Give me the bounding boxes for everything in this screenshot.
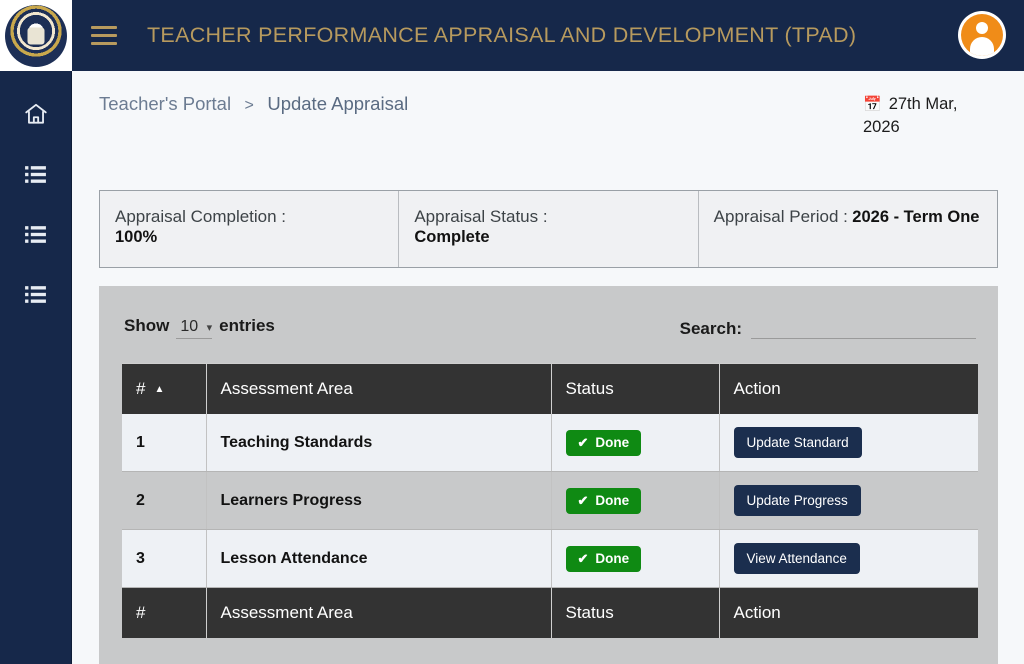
cell-num: 1 [122,414,206,472]
list-icon [23,282,48,307]
calendar-icon: 📅 [863,96,882,113]
table-row: 3 Lesson Attendance ✔Done View Attendanc… [122,530,978,588]
user-avatar-icon [961,14,1003,56]
page-length-select[interactable]: 10 ▾ [176,318,212,339]
table-foot: # Assessment Area Status Action [122,588,978,639]
top-bar: TEACHER PERFORMANCE APPRAISAL AND DEVELO… [72,0,1024,71]
card-value: Complete [414,228,682,247]
view-attendance-button[interactable]: View Attendance [734,543,860,574]
card-label: Appraisal Completion : [115,205,383,228]
update-standard-button[interactable]: Update Standard [734,427,862,458]
list-icon [23,222,48,247]
breadcrumb-row: Teacher's Portal > Update Appraisal 📅27t… [72,71,1024,139]
card-appraisal-completion: Appraisal Completion : 100% [100,191,398,267]
sidebar-item-list-1[interactable] [19,157,53,191]
cell-status: ✔Done [551,414,719,472]
column-header-status[interactable]: Status [551,364,719,415]
cell-assessment-area: Lesson Attendance [206,530,551,588]
status-badge: ✔Done [566,546,642,572]
search-control: Search: [680,319,976,340]
cell-action: View Attendance [719,530,978,588]
check-icon: ✔ [578,551,589,567]
table-header-row: #▲ Assessment Area Status Action [122,364,978,415]
card-label: Appraisal Period : [714,207,848,226]
card-value: 2026 - Term One [852,208,979,226]
column-header-action[interactable]: Action [719,364,978,415]
main-content: Teacher's Portal > Update Appraisal 📅27t… [72,71,1024,664]
footer-action: Action [719,588,978,639]
avatar[interactable] [958,11,1006,59]
card-label: Appraisal Status : [414,205,682,228]
card-value: 100% [115,228,383,247]
sort-ascending-icon: ▲ [154,384,164,395]
page-length-control: Show 10 ▾ entries [124,316,275,339]
table-footer-row: # Assessment Area Status Action [122,588,978,639]
search-label: Search: [680,319,742,339]
footer-assessment-area: Assessment Area [206,588,551,639]
assessment-table: #▲ Assessment Area Status Action 1 Teach… [122,363,978,638]
appraisal-panel: Show 10 ▾ entries Search: [99,286,998,664]
assessment-table-wrap: #▲ Assessment Area Status Action 1 Teach… [122,363,976,638]
status-badge-label: Done [595,493,629,508]
card-appraisal-period: Appraisal Period : 2026 - Term One [698,191,997,267]
table-row: 1 Teaching Standards ✔Done Update Standa… [122,414,978,472]
page-root: TEACHER PERFORMANCE APPRAISAL AND DEVELO… [0,0,1024,664]
cell-assessment-area: Teaching Standards [206,414,551,472]
footer-num: # [122,588,206,639]
column-header-num-label: # [136,379,145,398]
chevron-down-icon: ▾ [207,321,213,334]
cell-assessment-area: Learners Progress [206,472,551,530]
cell-status: ✔Done [551,472,719,530]
check-icon: ✔ [578,493,589,509]
show-label: Show [124,316,169,336]
status-badge-label: Done [595,551,629,566]
sidebar-logo[interactable] [0,0,72,71]
breadcrumb-separator: > [245,97,254,114]
sidebar-nav [0,71,71,311]
summary-cards: Appraisal Completion : 100% Appraisal St… [99,190,998,268]
breadcrumb-current[interactable]: Update Appraisal [267,93,408,114]
breadcrumb-root[interactable]: Teacher's Portal [99,93,231,114]
card-appraisal-status: Appraisal Status : Complete [398,191,697,267]
sidebar-item-list-2[interactable] [19,217,53,251]
table-head: #▲ Assessment Area Status Action [122,364,978,415]
update-progress-button[interactable]: Update Progress [734,485,861,516]
sidebar-item-home[interactable] [19,97,53,131]
page-length-value: 10 [180,318,198,335]
cell-action: Update Standard [719,414,978,472]
status-badge: ✔Done [566,430,642,456]
column-header-assessment-area[interactable]: Assessment Area [206,364,551,415]
current-date: 📅27th Mar, 2026 [863,93,998,139]
cell-action: Update Progress [719,472,978,530]
entries-label: entries [219,316,275,336]
sidebar-item-list-3[interactable] [19,277,53,311]
sidebar [0,0,72,664]
home-icon [23,101,49,127]
status-badge-label: Done [595,435,629,450]
footer-status: Status [551,588,719,639]
cell-num: 2 [122,472,206,530]
column-header-num[interactable]: #▲ [122,364,206,415]
search-input[interactable] [751,320,976,339]
cell-num: 3 [122,530,206,588]
hamburger-icon[interactable] [91,21,121,51]
list-icon [23,162,48,187]
table-row: 2 Learners Progress ✔Done Update Progres… [122,472,978,530]
page-title: TEACHER PERFORMANCE APPRAISAL AND DEVELO… [147,23,856,48]
cell-status: ✔Done [551,530,719,588]
tsc-emblem-icon [5,5,67,67]
table-controls: Show 10 ▾ entries Search: [99,286,998,339]
table-body: 1 Teaching Standards ✔Done Update Standa… [122,414,978,588]
check-icon: ✔ [578,435,589,451]
status-badge: ✔Done [566,488,642,514]
breadcrumb: Teacher's Portal > Update Appraisal [99,93,408,139]
